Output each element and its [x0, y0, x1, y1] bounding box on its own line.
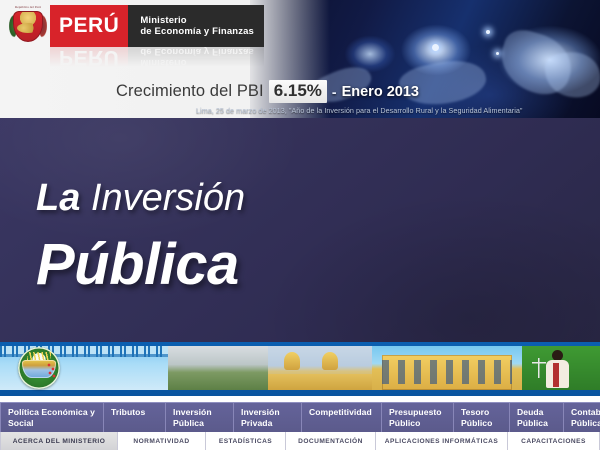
pbi-growth-headline: Crecimiento del PBI 6.15% - Enero 2013: [116, 80, 419, 103]
slide-title-line-2: Pública: [36, 233, 239, 297]
peru-coat-of-arms-icon: República del Perú: [8, 5, 48, 47]
pbi-value-badge: 6.15%: [269, 80, 327, 103]
weld-spark-icon: [432, 44, 439, 51]
peru-government-logo[interactable]: República del Perú PERÚ Ministerio de Ec…: [8, 5, 264, 47]
dateline-text: Lima, 25 de marzo de 2013, "Año de la In…: [196, 106, 523, 115]
ministry-line-1: Ministerio: [140, 15, 254, 27]
shield-caption: República del Perú: [10, 5, 46, 9]
nav-item-2[interactable]: Inversión Pública: [166, 403, 234, 433]
crest-fruit: [47, 363, 57, 379]
church-dome-right: [322, 352, 338, 370]
municipality-banner-strip: [0, 346, 600, 390]
slide-title-line-1: La Inversión: [36, 176, 245, 220]
sub-navigation: ACERCA DEL MINISTERIONORMATIVIDADESTADÍS…: [0, 432, 600, 450]
municipality-banner: Municipalidad Distrital de Mala: [0, 342, 600, 396]
nav-item-7[interactable]: Deuda Pública: [510, 403, 564, 433]
nav-item-3[interactable]: Inversión Privada: [234, 403, 302, 433]
banner-panel-church: [268, 346, 372, 390]
banner-panel-folklore: [522, 346, 600, 390]
subnav-item-3[interactable]: DOCUMENTACIÓN: [286, 432, 376, 450]
ministry-line-2: de Economía y Finanzas: [140, 26, 254, 38]
pbi-period: Enero 2013: [342, 84, 419, 100]
municipal-building: [382, 355, 512, 390]
nav-item-0[interactable]: Política Económica y Social: [0, 403, 104, 433]
subnav-item-2[interactable]: ESTADÍSTICAS: [206, 432, 286, 450]
church-facade: [268, 374, 372, 390]
pbi-label: Crecimiento del PBI: [116, 82, 264, 101]
subnav-item-4[interactable]: APLICACIONES INFORMÁTICAS: [376, 432, 508, 450]
banner-panel-landscape: [168, 346, 268, 390]
slide-title-word-bold: La: [36, 177, 80, 219]
presentation-page: República del Perú PERÚ Ministerio de Ec…: [0, 0, 600, 450]
banner-panel-crest: [0, 346, 168, 390]
church-dome-left: [284, 352, 300, 370]
main-navigation: Política Económica y SocialTributosInver…: [0, 402, 600, 433]
title-slide: La Inversión Pública: [0, 118, 600, 342]
subnav-item-0[interactable]: ACERCA DEL MINISTERIO: [0, 432, 118, 450]
nav-item-1[interactable]: Tributos: [104, 403, 166, 433]
nav-item-8[interactable]: Contabilidad Pública: [564, 403, 600, 433]
banner-panel-municipal-building: [372, 346, 522, 390]
slide-title-word-light: Inversión: [91, 177, 245, 219]
dancer-sash: [553, 363, 559, 387]
nav-item-6[interactable]: Tesoro Público: [454, 403, 510, 433]
subnav-item-5[interactable]: CAPACITACIONES: [508, 432, 600, 450]
building-windows: [382, 360, 512, 384]
subnav-item-1[interactable]: NORMATIVIDAD: [118, 432, 206, 450]
municipal-coat-of-arms-icon: [18, 347, 60, 389]
nav-item-4[interactable]: Competitividad: [302, 403, 382, 433]
weld-spark-icon: [486, 30, 490, 34]
peru-wordmark: PERÚ: [50, 5, 128, 47]
mef-header-banner: República del Perú PERÚ Ministerio de Ec…: [0, 0, 600, 118]
ministry-name: Ministerio de Economía y Finanzas: [128, 5, 264, 47]
pbi-dash: -: [332, 84, 337, 100]
folklore-dancer-icon: [544, 350, 570, 388]
nav-item-5[interactable]: Presupuesto Público: [382, 403, 454, 433]
decorative-cross-icon: [532, 358, 546, 378]
shield-crest: [13, 11, 43, 42]
weld-spark-icon: [496, 52, 499, 55]
